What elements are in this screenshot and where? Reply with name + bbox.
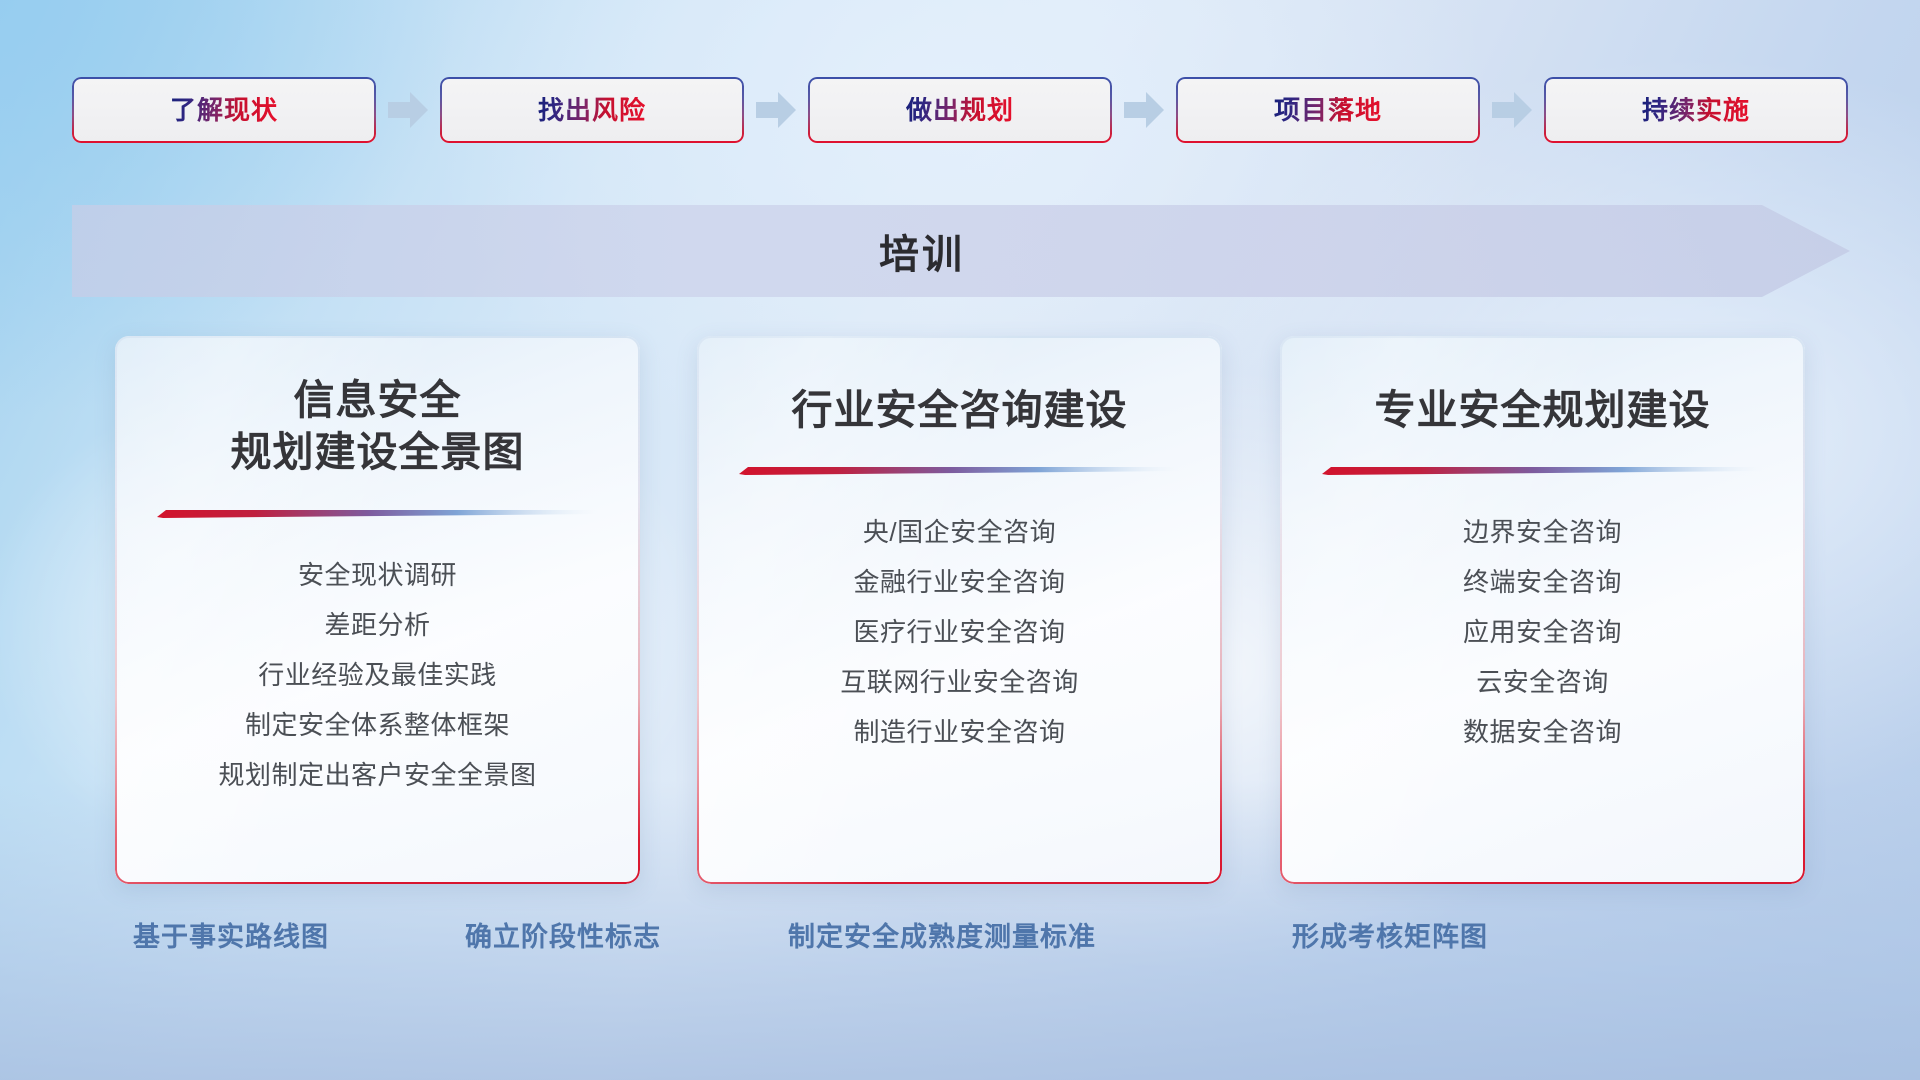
caption-0: 基于事实路线图: [133, 915, 329, 959]
card-title: 信息安全 规划建设全景图: [231, 374, 525, 479]
right-arrow-icon: [754, 90, 798, 130]
list-item: 终端安全咨询: [1322, 557, 1763, 607]
process-step-row: 了解现状 找出风险 做出规划 项目落地 持续实施: [72, 77, 1848, 143]
card-divider: [1322, 466, 1763, 475]
step-label-0: 了解现状: [170, 97, 278, 123]
list-item: 制定安全体系整体框架: [157, 700, 598, 750]
card-item-list: 央/国企安全咨询 金融行业安全咨询 医疗行业安全咨询 互联网行业安全咨询 制造行…: [739, 507, 1180, 757]
card-divider: [739, 466, 1180, 475]
list-item: 边界安全咨询: [1322, 507, 1763, 557]
right-arrow-icon: [386, 90, 430, 130]
list-item: 规划制定出客户安全全景图: [157, 750, 598, 800]
list-item: 医疗行业安全咨询: [739, 607, 1180, 657]
list-item: 云安全咨询: [1322, 657, 1763, 707]
step-pill-0[interactable]: 了解现状: [72, 77, 376, 143]
step-label-3: 项目落地: [1274, 97, 1382, 123]
step-pill-2[interactable]: 做出规划: [808, 77, 1112, 143]
caption-row: 基于事实路线图 确立阶段性标志 制定安全成熟度测量标准 形成考核矩阵图: [0, 915, 1920, 959]
step-pill-3[interactable]: 项目落地: [1176, 77, 1480, 143]
card-professional-security-planning[interactable]: 专业安全规划建设: [1280, 336, 1805, 884]
card-item-list: 边界安全咨询 终端安全咨询 应用安全咨询 云安全咨询 数据安全咨询: [1322, 507, 1763, 757]
step-label-2: 做出规划: [906, 97, 1014, 123]
list-item: 差距分析: [157, 600, 598, 650]
banner-title: 培训: [72, 205, 1772, 297]
card-title: 专业安全规划建设: [1375, 384, 1711, 436]
list-item: 行业经验及最佳实践: [157, 650, 598, 700]
caption-2: 制定安全成熟度测量标准: [788, 915, 1096, 959]
list-item: 制造行业安全咨询: [739, 707, 1180, 757]
list-item: 互联网行业安全咨询: [739, 657, 1180, 707]
caption-1: 确立阶段性标志: [465, 915, 661, 959]
list-item: 安全现状调研: [157, 550, 598, 600]
card-industry-security-consulting[interactable]: 行业安全咨询建设: [697, 336, 1222, 884]
step-pill-4[interactable]: 持续实施: [1544, 77, 1848, 143]
list-item: 应用安全咨询: [1322, 607, 1763, 657]
training-banner: 培训: [72, 205, 1850, 297]
right-arrow-icon: [1122, 90, 1166, 130]
card-row: 信息安全 规划建设全景图: [115, 336, 1805, 884]
card-title: 行业安全咨询建设: [792, 384, 1128, 436]
step-label-1: 找出风险: [538, 97, 646, 123]
card-information-security[interactable]: 信息安全 规划建设全景图: [115, 336, 640, 884]
card-divider: [157, 509, 598, 518]
caption-3: 形成考核矩阵图: [1292, 915, 1488, 959]
card-item-list: 安全现状调研 差距分析 行业经验及最佳实践 制定安全体系整体框架 规划制定出客户…: [157, 550, 598, 800]
right-arrow-icon: [1490, 90, 1534, 130]
list-item: 数据安全咨询: [1322, 707, 1763, 757]
step-pill-1[interactable]: 找出风险: [440, 77, 744, 143]
list-item: 央/国企安全咨询: [739, 507, 1180, 557]
list-item: 金融行业安全咨询: [739, 557, 1180, 607]
step-label-4: 持续实施: [1642, 97, 1750, 123]
